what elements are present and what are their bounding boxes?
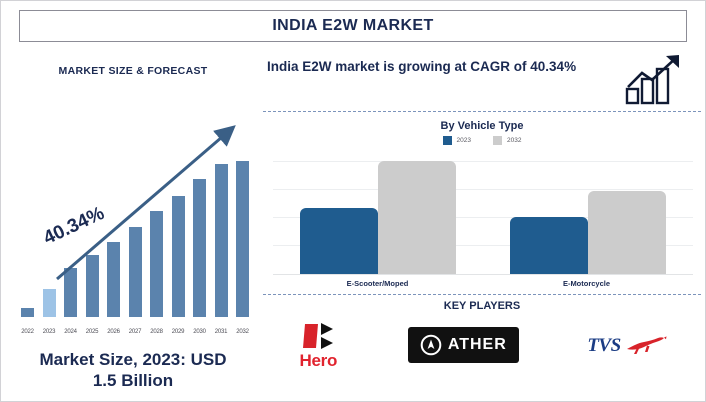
- infographic-root: INDIA E2W MARKET MARKET SIZE & FORECAST …: [0, 0, 706, 402]
- vehicle-type-chart: [263, 153, 701, 275]
- legend-label: 2032: [507, 137, 521, 144]
- growth-bar-chart-icon: [625, 53, 687, 105]
- ather-logo-icon: [420, 334, 442, 356]
- logo-hero[interactable]: Hero: [297, 321, 339, 369]
- market-size-line-1: Market Size, 2023: USD: [39, 350, 226, 369]
- market-size-callout: Market Size, 2023: USD 1.5 Billion: [13, 349, 253, 392]
- cagr-statement-block: India E2W market is growing at CAGR of 4…: [263, 49, 701, 111]
- vehicle-type-bar: [300, 208, 378, 274]
- market-size-forecast-heading: MARKET SIZE & FORECAST: [7, 65, 259, 77]
- legend-item[interactable]: 2032: [493, 136, 521, 145]
- logo-ather[interactable]: ATHER: [408, 327, 519, 363]
- page-title: INDIA E2W MARKET: [272, 17, 433, 35]
- divider-key-players: [263, 294, 701, 295]
- ather-logo-box: ATHER: [408, 327, 519, 363]
- vehicle-type-bar: [588, 191, 666, 274]
- market-size-line-2: 1.5 Billion: [93, 371, 173, 390]
- vehicle-type-bar: [378, 161, 456, 274]
- vehicle-type-category-axis: E-Scooter/MopedE-Motorcycle: [263, 279, 701, 288]
- hero-logo-icon: [297, 321, 339, 351]
- key-players-section: KEY PLAYERS Hero: [263, 294, 701, 374]
- logo-tvs[interactable]: TVS: [587, 335, 666, 355]
- cagr-statement: India E2W market is growing at CAGR of 4…: [267, 57, 602, 77]
- vehicle-type-category-label: E-Scooter/Moped: [281, 279, 473, 288]
- vehicle-type-chart-title: By Vehicle Type: [263, 120, 701, 132]
- vehicle-type-bar: [510, 217, 588, 274]
- key-players-logo-row: Hero ATHER TVS: [263, 316, 701, 374]
- right-panel: India E2W market is growing at CAGR of 4…: [263, 49, 701, 397]
- legend-swatch-icon: [493, 136, 502, 145]
- market-size-forecast-chart: 2022202320242025202620272028202920302031…: [15, 111, 255, 349]
- chart-axis-line: [273, 274, 693, 275]
- vehicle-type-legend: 20232032: [263, 136, 701, 145]
- vehicle-type-bar-group: [491, 153, 684, 274]
- divider-top: [263, 111, 701, 112]
- legend-item[interactable]: 2023: [443, 136, 471, 145]
- market-size-forecast-panel: MARKET SIZE & FORECAST 20222023202420252…: [7, 49, 259, 397]
- hero-logo-text: Hero: [300, 352, 338, 369]
- tvs-horse-logo-icon: [625, 335, 667, 355]
- legend-label: 2023: [457, 137, 471, 144]
- ather-logo-text: ATHER: [448, 337, 507, 353]
- vehicle-type-bar-groups: [273, 153, 693, 274]
- tvs-logo-row: TVS: [587, 335, 666, 355]
- vehicle-type-category-label: E-Motorcycle: [490, 279, 682, 288]
- legend-swatch-icon: [443, 136, 452, 145]
- page-title-banner: INDIA E2W MARKET: [19, 10, 687, 42]
- vehicle-type-bar-group: [281, 153, 474, 274]
- tvs-logo-text: TVS: [587, 336, 620, 355]
- key-players-title: KEY PLAYERS: [263, 300, 701, 312]
